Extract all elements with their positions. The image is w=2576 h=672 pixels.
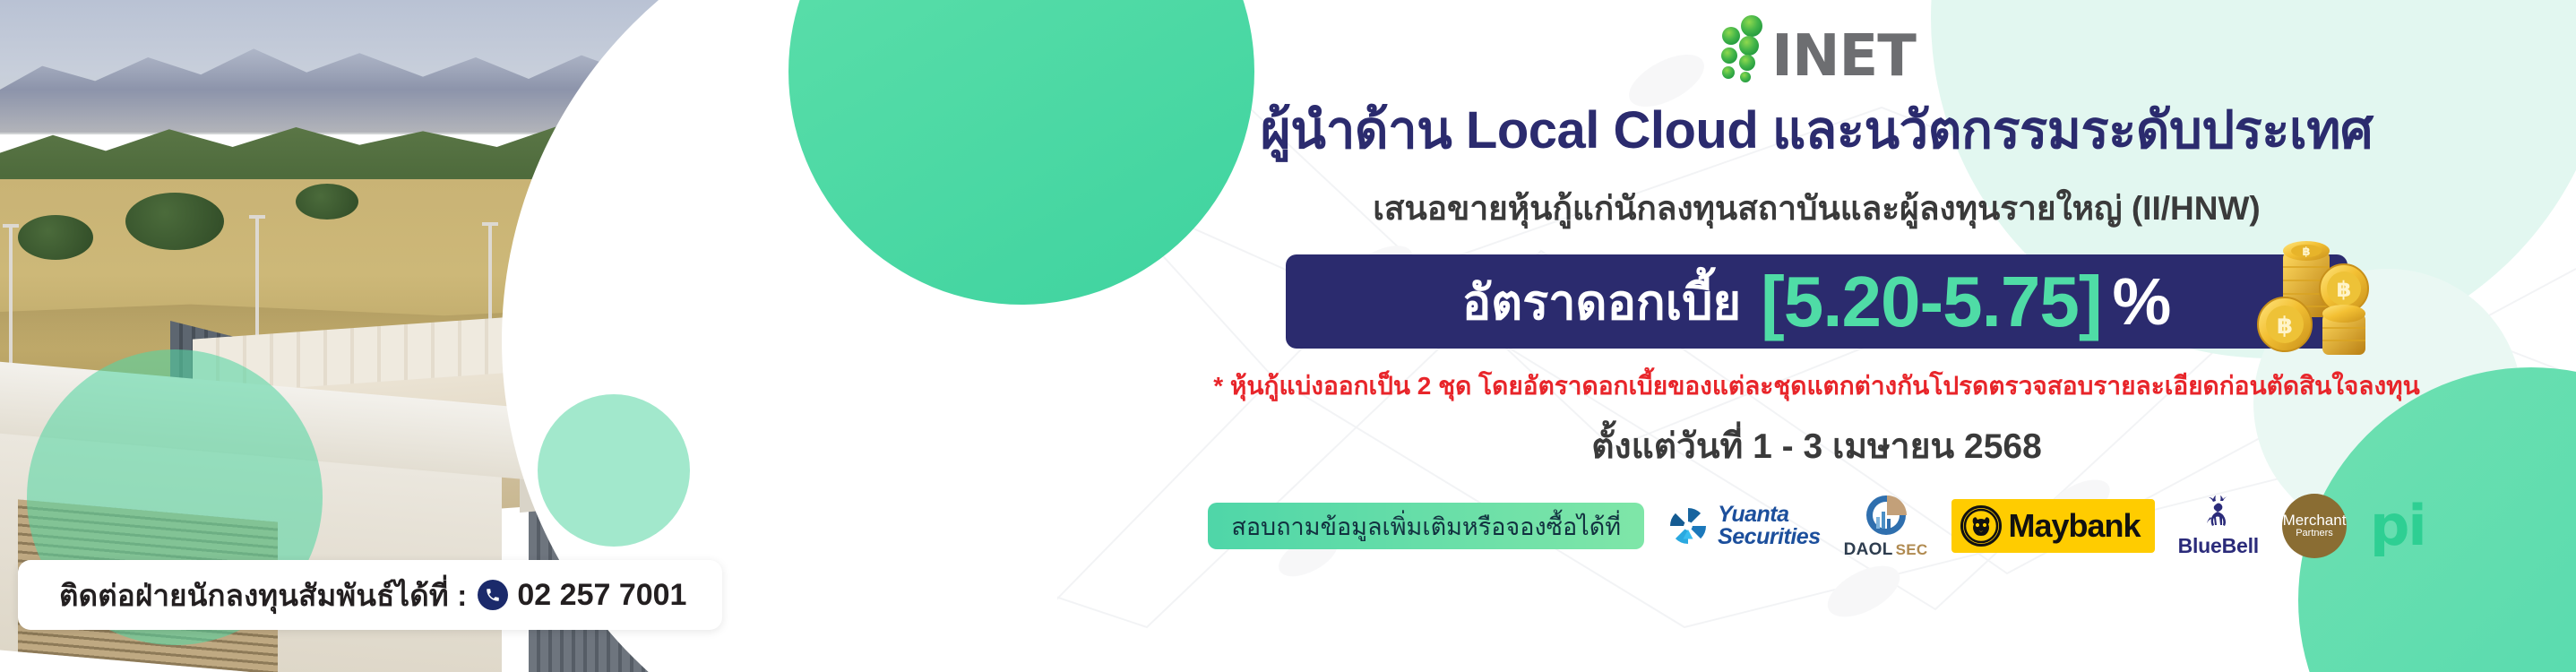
daol-wordmark: DAOLSEC	[1844, 540, 1928, 560]
pi-logo-icon: pi	[2370, 505, 2425, 547]
photo-tree	[18, 215, 93, 260]
maybank-wordmark: Maybank	[2009, 507, 2141, 545]
disclaimer-note: * หุ้นกู้แบ่งออกเป็น 2 ชุด โดยอัตราดอกเบ…	[1213, 366, 2420, 406]
maybank-tiger-icon	[1960, 505, 2002, 547]
daol-sec-logo-icon	[1863, 492, 1909, 538]
svg-text:฿: ฿	[2337, 277, 2352, 302]
investor-relations-contact-box[interactable]: ติดต่อฝ่ายนักลงทุนสัมพันธ์ได้ที่ : 02 25…	[18, 560, 722, 630]
partner-logo-yuanta[interactable]: Yuanta Securities	[1667, 504, 1821, 548]
bluebell-deer-icon	[2199, 494, 2238, 533]
partner-logo-maybank[interactable]: Maybank	[1951, 499, 2155, 553]
inet-logo-wordmark: INET	[1771, 31, 1916, 83]
contact-label: ติดต่อฝ่ายนักลงทุนสัมพันธ์ได้ที่ :	[59, 572, 467, 619]
headline: ผู้นำด้าน Local Cloud และนวัตกรรมระดับปร…	[1261, 88, 2374, 171]
yuanta-name-line1: Yuanta	[1718, 504, 1821, 526]
merchant-name-line1: Merchant	[2283, 513, 2347, 529]
contact-phone-number: 02 257 7001	[517, 578, 686, 613]
partner-logo-merchant-partners[interactable]: Merchant Partners	[2282, 494, 2347, 558]
merchant-name-line2: Partners	[2296, 529, 2333, 539]
banner-content-column: INET ผู้นำด้าน Local Cloud และนวัตกรรมระ…	[1057, 0, 2576, 672]
yuanta-logo-icon	[1667, 505, 1709, 547]
gold-coins-icon: ฿ ฿ ฿	[2244, 224, 2378, 367]
partners-row: สอบถามข้อมูลเพิ่มเติมหรือจองซื้อได้ที่ Y…	[1057, 492, 2576, 560]
inquire-or-subscribe-button[interactable]: สอบถามข้อมูลเพิ่มเติมหรือจองซื้อได้ที่	[1208, 503, 1644, 549]
subheadline: เสนอขายหุ้นกู้แก่นักลงทุนสถาบันและผู้ลงท…	[1373, 182, 2260, 235]
interest-rate-value: [5.20-5.75]	[1761, 266, 2101, 338]
inet-logo: INET	[1718, 15, 1916, 83]
yuanta-name-line2: Securities	[1718, 526, 1821, 548]
svg-text:฿: ฿	[2277, 313, 2293, 340]
brand-logo-row: INET	[1057, 13, 2576, 86]
yuanta-wordmark: Yuanta Securities	[1718, 504, 1821, 548]
merchant-partners-icon: Merchant Partners	[2282, 494, 2347, 558]
photo-tree	[296, 184, 358, 220]
daol-name-line2: SEC	[1896, 541, 1928, 558]
photo-tree	[125, 193, 224, 250]
decorative-blob-center	[538, 394, 690, 547]
inet-bond-offering-banner: ติดต่อฝ่ายนักลงทุนสัมพันธ์ได้ที่ : 02 25…	[0, 0, 2576, 672]
partner-logo-pi[interactable]: pi	[2370, 505, 2425, 547]
partner-logo-daolsec[interactable]: DAOLSEC	[1844, 492, 1928, 560]
interest-rate-box: อัตราดอกเบี้ย [5.20-5.75] %	[1286, 254, 2348, 349]
interest-rate-label: อัตราดอกเบี้ย	[1462, 263, 1741, 340]
bluebell-wordmark: BlueBell	[2178, 534, 2259, 558]
interest-rate-percent: %	[2112, 269, 2171, 335]
phone-icon	[478, 580, 508, 610]
partner-logo-bluebell[interactable]: BlueBell	[2178, 494, 2259, 558]
svg-text:฿: ฿	[2302, 246, 2310, 259]
offering-dateline: ตั้งแต่วันที่ 1 - 3 เมษายน 2568	[1591, 418, 2042, 474]
inet-dots-logo-icon	[1718, 15, 1768, 83]
daol-name-line1: DAOL	[1844, 540, 1893, 559]
